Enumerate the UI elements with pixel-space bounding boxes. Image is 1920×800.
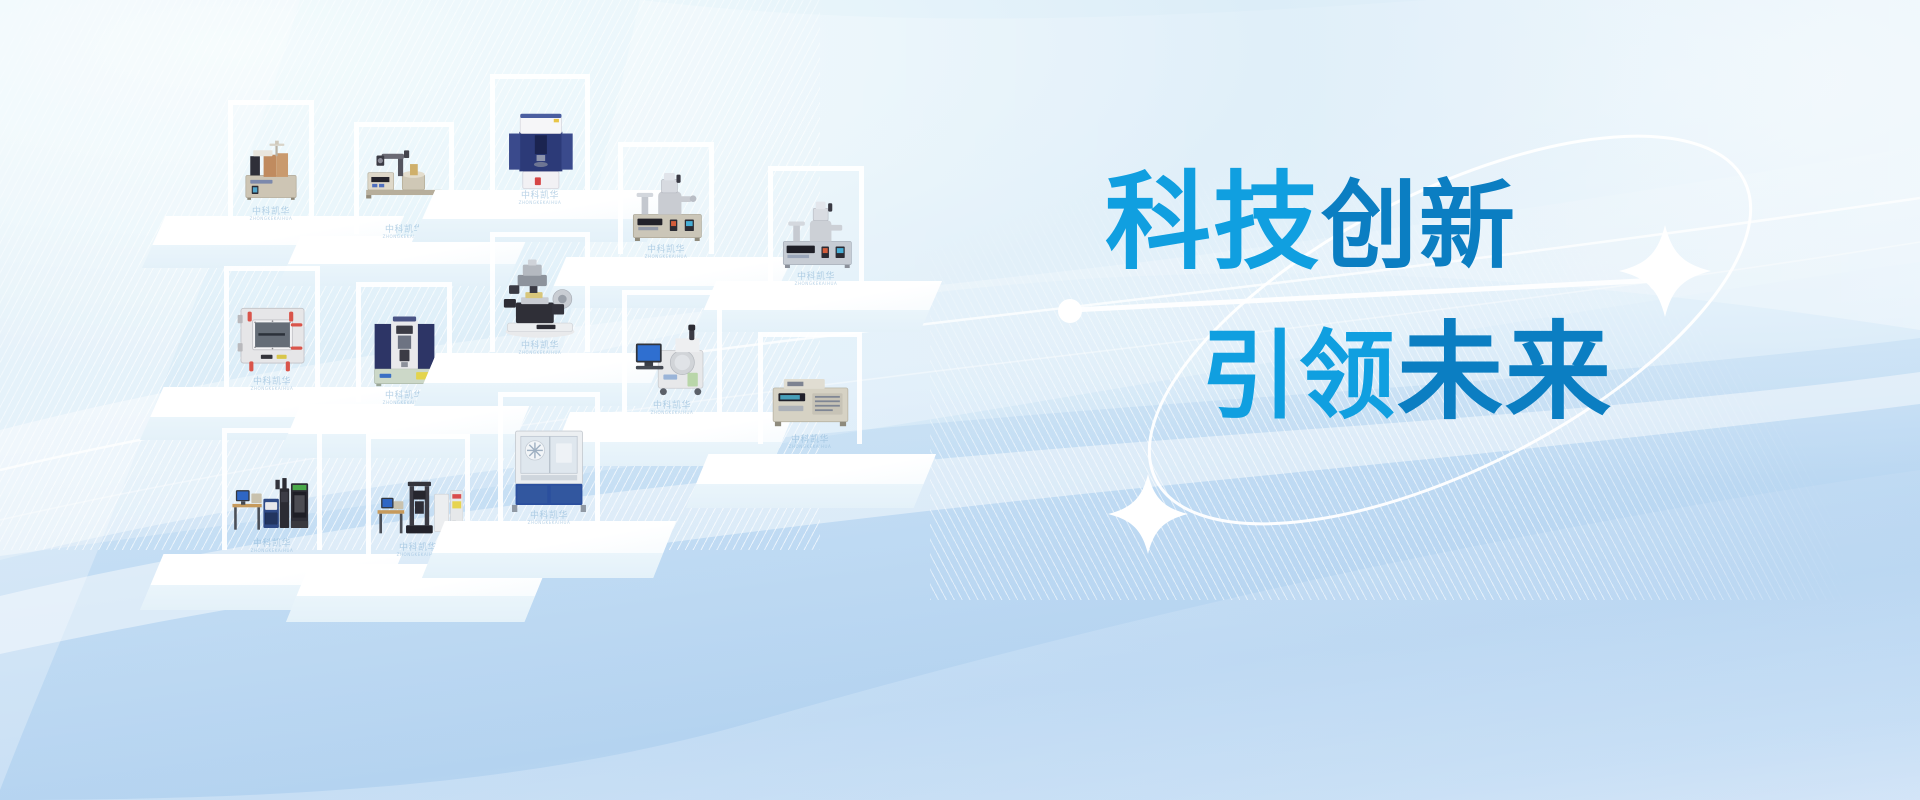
headline-block: 科技创新 引领未来	[1105, 170, 1845, 426]
headline-line2-part1: 引领	[1201, 320, 1397, 432]
product-image-electronic-control-test-bench	[766, 346, 855, 436]
product-watermark: 中科凯华ZHONGKEKAIHUA	[786, 432, 834, 450]
watermark-cn: 中科凯华	[525, 508, 573, 521]
pedestal-top-face	[686, 454, 936, 484]
pedestal-front-face	[422, 553, 676, 578]
watermark-en: ZHONGKEKAIHUA	[789, 445, 832, 450]
watermark-en: ZHONGKEKAIHUA	[528, 521, 571, 526]
watermark-cn: 中科凯华	[786, 432, 834, 445]
product-tile-electronic-control-test-bench[interactable]: 中科凯华ZHONGKEKAIHUA	[686, 328, 936, 508]
pedestal-front-face	[686, 484, 936, 508]
product-image-fume-hood-clean-bench	[505, 406, 593, 512]
sparkle-bottom-left-icon	[1108, 474, 1188, 554]
pedestal-front-face	[286, 596, 548, 622]
orbit-node-left	[1058, 299, 1082, 323]
product-image-vacuum-coating-system	[775, 180, 858, 273]
watermark-en: ZHONGKEKAIHUA	[795, 282, 838, 287]
banner-canvas: 中科凯华ZHONGKEKAIHUA 中科凯华ZHONGKEKAIHUA 中科凯华…	[0, 0, 1920, 800]
product-watermark: 中科凯华ZHONGKEKAIHUA	[525, 508, 573, 526]
product-pedestal	[422, 521, 676, 578]
headline-line2-part2: 未来	[1397, 311, 1613, 434]
product-tile-fume-hood-clean-bench[interactable]: 中科凯华ZHONGKEKAIHUA	[422, 388, 676, 578]
headline-line-2: 引领未来	[1201, 320, 1845, 426]
product-watermark: 中科凯华ZHONGKEKAIHUA	[792, 269, 840, 287]
watermark-cn: 中科凯华	[792, 269, 840, 282]
headline-line-1: 科技创新	[1105, 170, 1845, 276]
product-pedestal	[686, 454, 936, 508]
headline-line1-part2: 创新	[1321, 170, 1517, 282]
headline-line1-part1: 科技	[1105, 161, 1321, 284]
